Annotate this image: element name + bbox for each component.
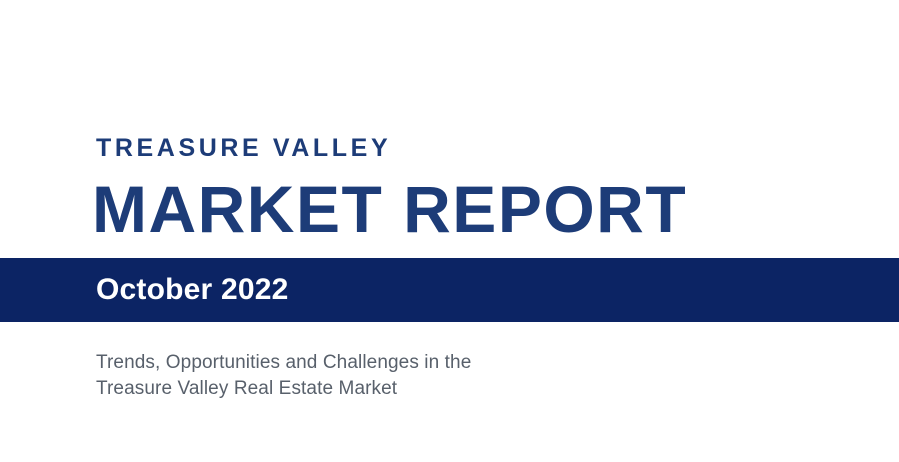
report-date: October 2022 — [96, 275, 289, 305]
report-subtitle: Trends, Opportunities and Challenges in … — [96, 350, 471, 402]
page-title: MARKET REPORT — [92, 176, 687, 242]
report-cover-page: TREASURE VALLEY MARKET REPORT October 20… — [0, 0, 899, 462]
report-kicker: TREASURE VALLEY — [96, 136, 391, 161]
date-banner: October 2022 — [0, 258, 899, 322]
report-subtitle-line-1: Trends, Opportunities and Challenges in … — [96, 350, 471, 376]
report-subtitle-line-2: Treasure Valley Real Estate Market — [96, 376, 471, 402]
